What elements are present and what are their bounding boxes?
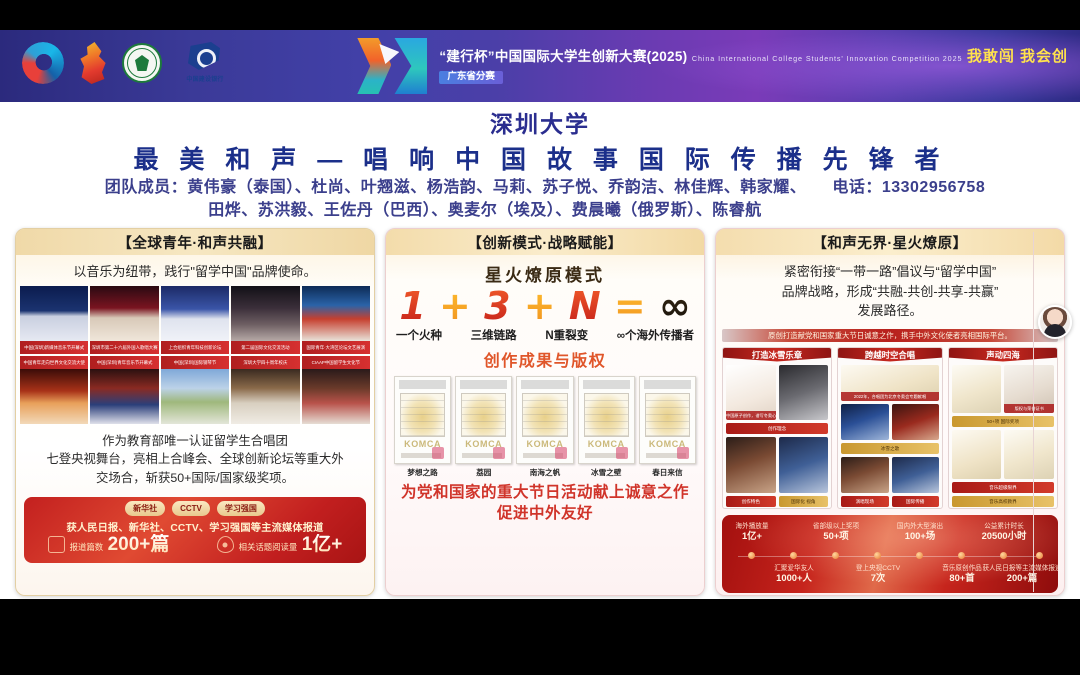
competition-text-block: “建行杯”中国国际大学生创新大赛(2025) China Internation… — [439, 48, 1068, 84]
panel-left-lead: 以音乐为纽带，践行"留学中国"品牌使命。 — [16, 255, 374, 286]
media-stats-row: 报道篇数 200+篇 相关话题阅读量 1亿+ — [24, 535, 366, 554]
team-members-line1: 黄伟豪（泰国）、杜尚、叶翘滋、杨浩韵、马莉、苏子悦、乔韵洁、林佳辉、韩家耀、 — [187, 179, 806, 196]
card-title: 跨越时空合唱 — [838, 348, 942, 362]
card-badge: 50+项 国际奖项 — [952, 416, 1054, 427]
highlight-card: 跨越时空合唱 2022年，合唱团为北京冬奥会专题献唱 冰雪之歌 — [837, 347, 943, 509]
formula-equals: = — [614, 284, 646, 328]
card-photo — [952, 365, 1002, 414]
photo-item: 中国(深圳)国际钢琴节 — [161, 356, 229, 424]
photo-item: 深圳市第二十六届外国人歌唱大赛 — [90, 286, 158, 354]
stat-value: 200+篇 — [108, 534, 170, 555]
letterbox-top — [0, 0, 1080, 30]
card-photo: 2022年，合唱团为北京冬奥会专题献唱 — [841, 365, 939, 401]
card-badge-row: 50+项 国际奖项 — [952, 416, 1054, 427]
card-photo — [892, 404, 939, 440]
certificate-item: KOMCA — [516, 376, 573, 464]
formula-op-1: + — [439, 284, 471, 328]
competition-title: “建行杯”中国国际大学生创新大赛(2025) — [439, 49, 687, 64]
panel-left-title: 【全球青年·和声共融】 — [16, 229, 374, 255]
right-lead-line1: 紧密衔接“一带一路”倡议与“留学中国” — [726, 262, 1054, 282]
legend-item-2: 三维链路 — [471, 327, 517, 343]
certificate-name-row: 梦想之路 荔园 南海之帆 冰雪之壁 春日来信 — [386, 464, 704, 478]
panel-harmony-borderless: 【和声无界·星火燎原】 紧密衔接“一带一路”倡议与“留学中国” 品牌战略，形成“… — [715, 228, 1065, 596]
card-title: 声动四海 — [949, 348, 1057, 362]
team-label: 团队成员： — [105, 179, 188, 196]
mid-footer-line1: 为党和国家的重大节日活动献上诚意之作 — [386, 483, 704, 504]
legend-item-1: 一个火种 — [396, 327, 442, 343]
seal-icon — [677, 447, 689, 459]
copyright-section-title: 创作成果与版权 — [386, 347, 704, 371]
phone-number: 13302956758 — [882, 179, 985, 196]
competition-logo-group: “建行杯”中国国际大学生创新大赛(2025) China Internation… — [357, 34, 1068, 98]
left-body-line1: 作为教育部唯一认证留学生合唱团 — [28, 432, 362, 451]
certificate-item: KOMCA — [394, 376, 451, 464]
stat-label: 相关话题阅读量 — [239, 542, 298, 552]
competition-mark-icon — [357, 34, 433, 98]
highlight-card: 打造冰雪乐章 中国原子创作，谱写冬奥心声 创作理念 创作特色 — [722, 347, 832, 509]
panel-right-lead: 紧密衔接“一带一路”倡议与“留学中国” 品牌战略，形成“共融-共创-共享-共赢”… — [716, 255, 1064, 325]
competition-subtitle: China International College Students' In… — [692, 54, 962, 63]
panel-global-youth: 【全球青年·和声共融】 以音乐为纽带，践行"留学中国"品牌使命。 中国(深圳)新… — [15, 228, 375, 596]
card-badge: 音乐超级限界 — [952, 482, 1054, 493]
sponsor-logo-group: 中国建设银行 — [22, 42, 234, 84]
certificate-name: 荔园 — [455, 467, 512, 478]
panel-left-body: 作为教育部唯一认证留学生合唱团 七登央视舞台，亮相上合峰会、全球创新论坛等重大外… — [16, 424, 374, 494]
photo-item: 上合组织青年科技创新论坛 — [161, 286, 229, 354]
presentation-slide: 中国建设银行 “建行杯”中国国际大学生创新大赛(2025) China Inte… — [0, 0, 1080, 675]
mid-footer-line2: 促进中外友好 — [386, 504, 704, 525]
school-name: 深圳大学 — [0, 105, 1080, 139]
highlight-card: 声动四海 版权与荣誉证书 50+项 国际奖项 音乐超级限界 — [948, 347, 1058, 509]
formula-term-1: 1 — [399, 284, 425, 328]
top-banner: 中国建设银行 “建行杯”中国国际大学生创新大赛(2025) China Inte… — [0, 30, 1080, 102]
card-photo: 版权与荣誉证书 — [1004, 365, 1054, 414]
seal-icon — [493, 447, 505, 459]
stat-value: 1亿+ — [302, 534, 343, 555]
photo-item: 中国(深圳)青年音乐节开幕式 — [90, 356, 158, 424]
card-photo: 中国原子创作，谱写冬奥心声 — [726, 365, 776, 421]
card-badge: 创作理念 — [726, 423, 828, 434]
model-formula: 1 + 3 + N = ∞ — [386, 287, 704, 325]
card-badge: 国际化 视角 — [779, 496, 829, 507]
stat-block: 获人民日报等主流媒体报道200+篇 — [976, 565, 1058, 583]
stats-axis-line — [738, 556, 1042, 557]
team-info: 团队成员：黄伟豪（泰国）、杜尚、叶翘滋、杨浩韵、马莉、苏子悦、乔韵洁、林佳辉、韩… — [0, 176, 1080, 222]
certificate-item: KOMCA — [578, 376, 635, 464]
card-badge-row: 音乐高校教界 — [952, 496, 1054, 507]
panel-mid-footer: 为党和国家的重大节日活动献上诚意之作 促进中外友好 — [386, 483, 704, 525]
media-coverage-bar: 新华社 CCTV 学习强国 获人民日报、新华社、CCTV、学习强国等主流媒体报道… — [24, 497, 366, 563]
card-photo — [726, 437, 776, 493]
card-badge: 冰雪之歌 — [841, 443, 939, 454]
media-stat-item: 报道篇数 200+篇 — [48, 535, 170, 554]
phone-label: 电话： — [832, 179, 882, 196]
card-badge-row: 冰雪之歌 — [841, 443, 939, 454]
right-lead-line3: 发展路径。 — [726, 301, 1054, 321]
university-seal-logo — [122, 43, 162, 83]
stat-block: 海外播放量1亿+ — [722, 523, 798, 542]
card-badge-row: 创作特色 国际化 视角 — [726, 496, 828, 507]
stat-block: 登上央视CCTV7次 — [832, 565, 924, 584]
panel-right-title: 【和声无界·星火燎原】 — [716, 229, 1064, 255]
certificate-item: KOMCA — [455, 376, 512, 464]
stat-block: 国内外大型演出100+场 — [874, 523, 966, 542]
media-coverage-text: 获人民日报、新华社、CCTV、学习强国等主流媒体报道 — [24, 519, 366, 534]
card-badge: 国际传播 — [892, 496, 939, 507]
card-photo — [1004, 430, 1054, 479]
highlight-card-row: 打造冰雪乐章 中国原子创作，谱写冬奥心声 创作理念 创作特色 — [716, 342, 1064, 509]
seal-icon — [616, 447, 628, 459]
media-stat-item: 相关话题阅读量 1亿+ — [217, 535, 343, 554]
document-icon — [48, 536, 65, 553]
card-photo — [779, 365, 829, 421]
card-badge-row: 演唱现场 国际传播 — [841, 496, 939, 507]
certificate-name: 南海之帆 — [516, 467, 573, 478]
photo-item: CIAAP中国留学生文化节 — [302, 356, 370, 424]
stat-block: 公益累计时长20500小时 — [958, 523, 1050, 542]
presenter-avatar[interactable] — [1038, 305, 1072, 339]
xuexiqiangguo-logo: 学习强国 — [217, 501, 265, 516]
right-lead-line2: 品牌战略，形成“共融-共创-共享-共赢” — [726, 282, 1054, 302]
achievement-photo-grid: 中国(深圳)新媒体音乐节开幕式 深圳市第二十六届外国人歌唱大赛 上合组织青年科技… — [16, 286, 374, 424]
certificate-name: 春日来信 — [639, 467, 696, 478]
achievement-stats-bar: 海外播放量1亿+ 汇聚爱华友人1000+人 省部级以上奖项50+项 登上央视CC… — [722, 515, 1058, 593]
legend-item-3: N重裂变 — [545, 327, 588, 343]
model-name: 星火燎原模式 — [386, 255, 704, 286]
card-badge: 创作特色 — [726, 496, 776, 507]
ccb-logo-text: 中国建设银行 — [176, 77, 234, 84]
card-title: 打造冰雪乐章 — [723, 348, 831, 362]
card-photo — [841, 457, 888, 493]
panel-right-strip: 原创打造献党和国家重大节日诚意之作，携手中外文化使者亮相国际平台。 — [722, 329, 1058, 342]
competition-slogan: 我敢闯 我会创 — [967, 48, 1068, 65]
ccb-bank-logo: 中国建设银行 — [176, 42, 234, 84]
ccb-emblem-icon — [188, 42, 220, 70]
certificate-name: 梦想之路 — [394, 467, 451, 478]
xinhua-logo: 新华社 — [125, 501, 165, 516]
slide-edge-divider — [1033, 232, 1034, 592]
card-photo — [841, 404, 888, 440]
panel-mid-title: 【创新模式·战略赋能】 — [386, 229, 704, 255]
shenzhen-university-wave-logo — [22, 42, 64, 84]
competition-region-badge: 广东省分赛 — [439, 71, 503, 84]
team-members-line2: 田烨、苏洪毅、王佐丹（巴西）、奥麦尔（埃及）、费晨曦（俄罗斯）、陈睿航 — [208, 202, 762, 219]
card-badge: 演唱现场 — [841, 496, 888, 507]
stat-label: 报道篇数 — [70, 542, 104, 552]
left-body-line2: 七登央视舞台，亮相上合峰会、全球创新论坛等重大外 — [28, 450, 362, 469]
project-title: 最 美 和 声 — 唱 响 中 国 故 事 国 际 传 播 先 锋 者 — [0, 140, 1080, 176]
formula-infinity: ∞ — [659, 284, 691, 328]
card-photo — [892, 457, 939, 493]
formula-term-3: 3 — [484, 284, 510, 328]
seal-icon — [432, 447, 444, 459]
card-badge-row: 创作理念 — [726, 423, 828, 434]
card-photo — [952, 430, 1002, 479]
formula-legend: 一个火种 三维链路 N重裂变 ∞个海外传播者 — [386, 325, 704, 343]
seal-icon — [555, 447, 567, 459]
media-logo-row: 新华社 CCTV 学习强国 — [24, 497, 366, 516]
card-badge: 音乐高校教界 — [952, 496, 1054, 507]
card-badge-row: 音乐超级限界 — [952, 482, 1054, 493]
formula-term-n: N — [569, 284, 601, 328]
certificate-item: KOMCA — [639, 376, 696, 464]
panel-innovation-model: 【创新模式·战略赋能】 星火燎原模式 1 + 3 + N = ∞ 一个火种 三维… — [385, 228, 705, 596]
legend-item-4: ∞个海外传播者 — [617, 327, 694, 343]
photo-item: 中国青年走向世界文化交流大使 — [20, 356, 88, 424]
photo-item: 国际青年·大湾区论坛文艺展演 — [302, 286, 370, 354]
certificate-name: 冰雪之壁 — [578, 467, 635, 478]
flame-logo — [78, 42, 108, 84]
stat-block: 汇聚爱华友人1000+人 — [748, 565, 840, 584]
photo-item: 第二届国际文化交流活动 — [231, 286, 299, 354]
formula-op-2: + — [524, 284, 556, 328]
cctv-logo: CCTV — [172, 501, 210, 516]
letterbox-bottom — [0, 599, 1080, 675]
left-body-line3: 交场合，斩获50+国际/国家级奖项。 — [28, 469, 362, 488]
photo-item: 深圳大学四十周年校庆 — [231, 356, 299, 424]
photo-item: 中国(深圳)新媒体音乐节开幕式 — [20, 286, 88, 354]
copyright-certificate-row: KOMCA KOMCA KOMCA KOMCA KOMCA — [386, 371, 704, 464]
eye-icon — [217, 536, 234, 553]
stat-block: 省部级以上奖项50+项 — [790, 523, 882, 542]
card-photo — [779, 437, 829, 493]
